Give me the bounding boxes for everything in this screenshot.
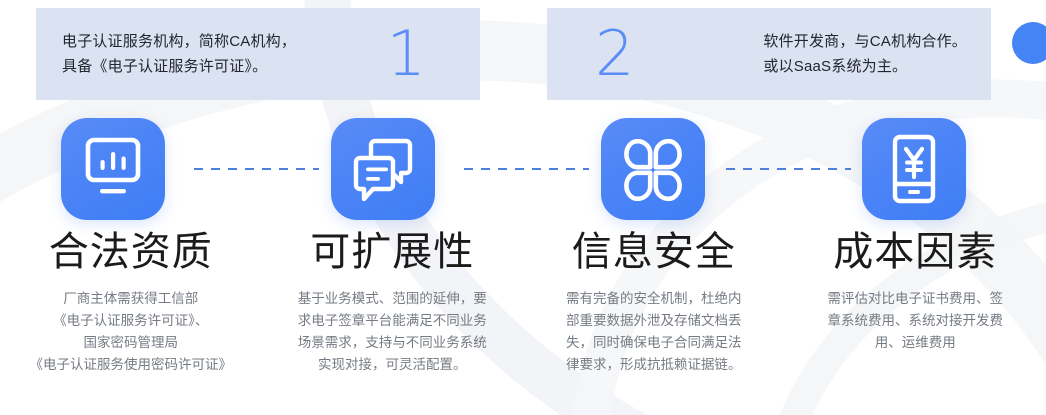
feature-body-3: 需有完备的安全机制，杜绝内 部重要数据外泄及存储文档丢 失，同时确保电子合同满足…	[560, 288, 748, 376]
monitor-chart-icon	[61, 118, 165, 220]
four-petal-clover-icon	[601, 118, 705, 220]
blue-circle-icon	[1012, 22, 1046, 64]
chat-bubbles-icon	[331, 118, 435, 220]
dashed-connector-1	[194, 168, 319, 170]
callout-text-2: 软件开发商，与CA机构合作。 或以SaaS系统为主。	[763, 29, 967, 79]
callout-box-2: 2 软件开发商，与CA机构合作。 或以SaaS系统为主。	[547, 8, 991, 100]
icon-tile-information-security	[601, 118, 705, 220]
feature-column-legal-qualification: 合法资质 厂商主体需获得工信部 《电子认证服务许可证》、 国家密码管理局 《电子…	[0, 228, 262, 415]
callout-box-1: 电子认证服务机构，简称CA机构， 具备《电子认证服务许可证》。 1	[36, 8, 480, 100]
callout-number-1: 1	[351, 23, 472, 85]
mobile-yuan-icon	[862, 118, 966, 220]
feature-columns: 合法资质 厂商主体需获得工信部 《电子认证服务许可证》、 国家密码管理局 《电子…	[0, 228, 1046, 415]
dashed-connector-2	[464, 168, 589, 170]
feature-title-4: 成本因素	[833, 228, 997, 276]
callout-number-2: 2	[561, 23, 682, 85]
feature-title-2: 可扩展性	[310, 228, 474, 276]
feature-column-scalability: 可扩展性 基于业务模式、范围的延伸，要 求电子签章平台能满足不同业务 场景需求，…	[262, 228, 524, 415]
feature-body-4: 需评估对比电子证书费用、签 章系统费用、系统对接开发费 用、运维费用	[816, 288, 1016, 354]
icon-tile-cost-factor	[862, 118, 966, 220]
feature-title-3: 信息安全	[572, 228, 736, 276]
feature-column-information-security: 信息安全 需有完备的安全机制，杜绝内 部重要数据外泄及存储文档丢 失，同时确保电…	[523, 228, 785, 415]
feature-column-cost-factor: 成本因素 需评估对比电子证书费用、签 章系统费用、系统对接开发费 用、运维费用	[785, 228, 1046, 415]
callout-text-1: 电子认证服务机构，简称CA机构， 具备《电子认证服务许可证》。	[62, 29, 296, 79]
feature-body-1: 厂商主体需获得工信部 《电子认证服务许可证》、 国家密码管理局 《电子认证服务使…	[28, 288, 235, 376]
dashed-connector-3	[726, 168, 851, 170]
icon-tile-scalability	[331, 118, 435, 220]
callout-row: 电子认证服务机构，简称CA机构， 具备《电子认证服务许可证》。 1 2 软件开发…	[0, 0, 1046, 108]
icon-row	[0, 118, 1046, 220]
feature-title-1: 合法资质	[49, 228, 213, 276]
infographic-canvas: 电子认证服务机构，简称CA机构， 具备《电子认证服务许可证》。 1 2 软件开发…	[0, 0, 1046, 415]
feature-body-2: 基于业务模式、范围的延伸，要 求电子签章平台能满足不同业务 场景需求，支持与不同…	[292, 288, 493, 376]
icon-tile-legal-qualification	[61, 118, 165, 220]
